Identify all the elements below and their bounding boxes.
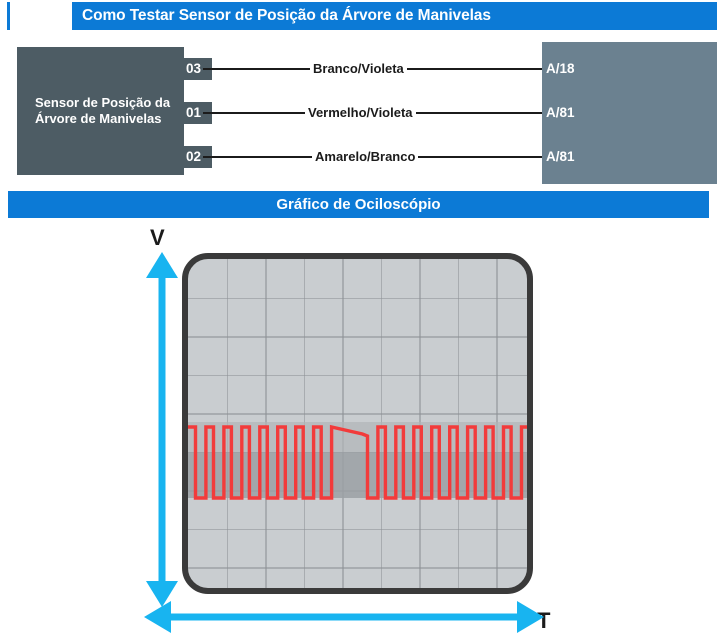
wiring-diagram: Sensor de Posição da Árvore de Manivelas…	[0, 40, 717, 185]
pin-right-a81-2: A/81	[542, 146, 576, 168]
header-accent-bar	[7, 2, 10, 30]
pin-right-a18: A/18	[542, 58, 576, 80]
section-title-oscilloscope: Gráfico de Ociloscópio	[8, 191, 709, 218]
pin-right-a81-1: A/81	[542, 102, 576, 124]
sensor-block-label: Sensor de Posição da Árvore de Manivelas	[17, 47, 184, 175]
waveform-trace	[188, 259, 529, 590]
axis-y-label: V	[150, 225, 165, 251]
wire-label-1: Branco/Violeta	[310, 61, 407, 77]
page-header: Como Testar Sensor de Posição da Árvore …	[0, 0, 717, 32]
axis-y-arrow	[145, 252, 179, 607]
wire-label-3: Amarelo/Branco	[312, 149, 418, 165]
page-title: Como Testar Sensor de Posição da Árvore …	[72, 2, 717, 30]
wire-label-2: Vermelho/Violeta	[305, 105, 416, 121]
axis-x-arrow	[144, 600, 544, 634]
oscilloscope-screen	[182, 253, 533, 594]
